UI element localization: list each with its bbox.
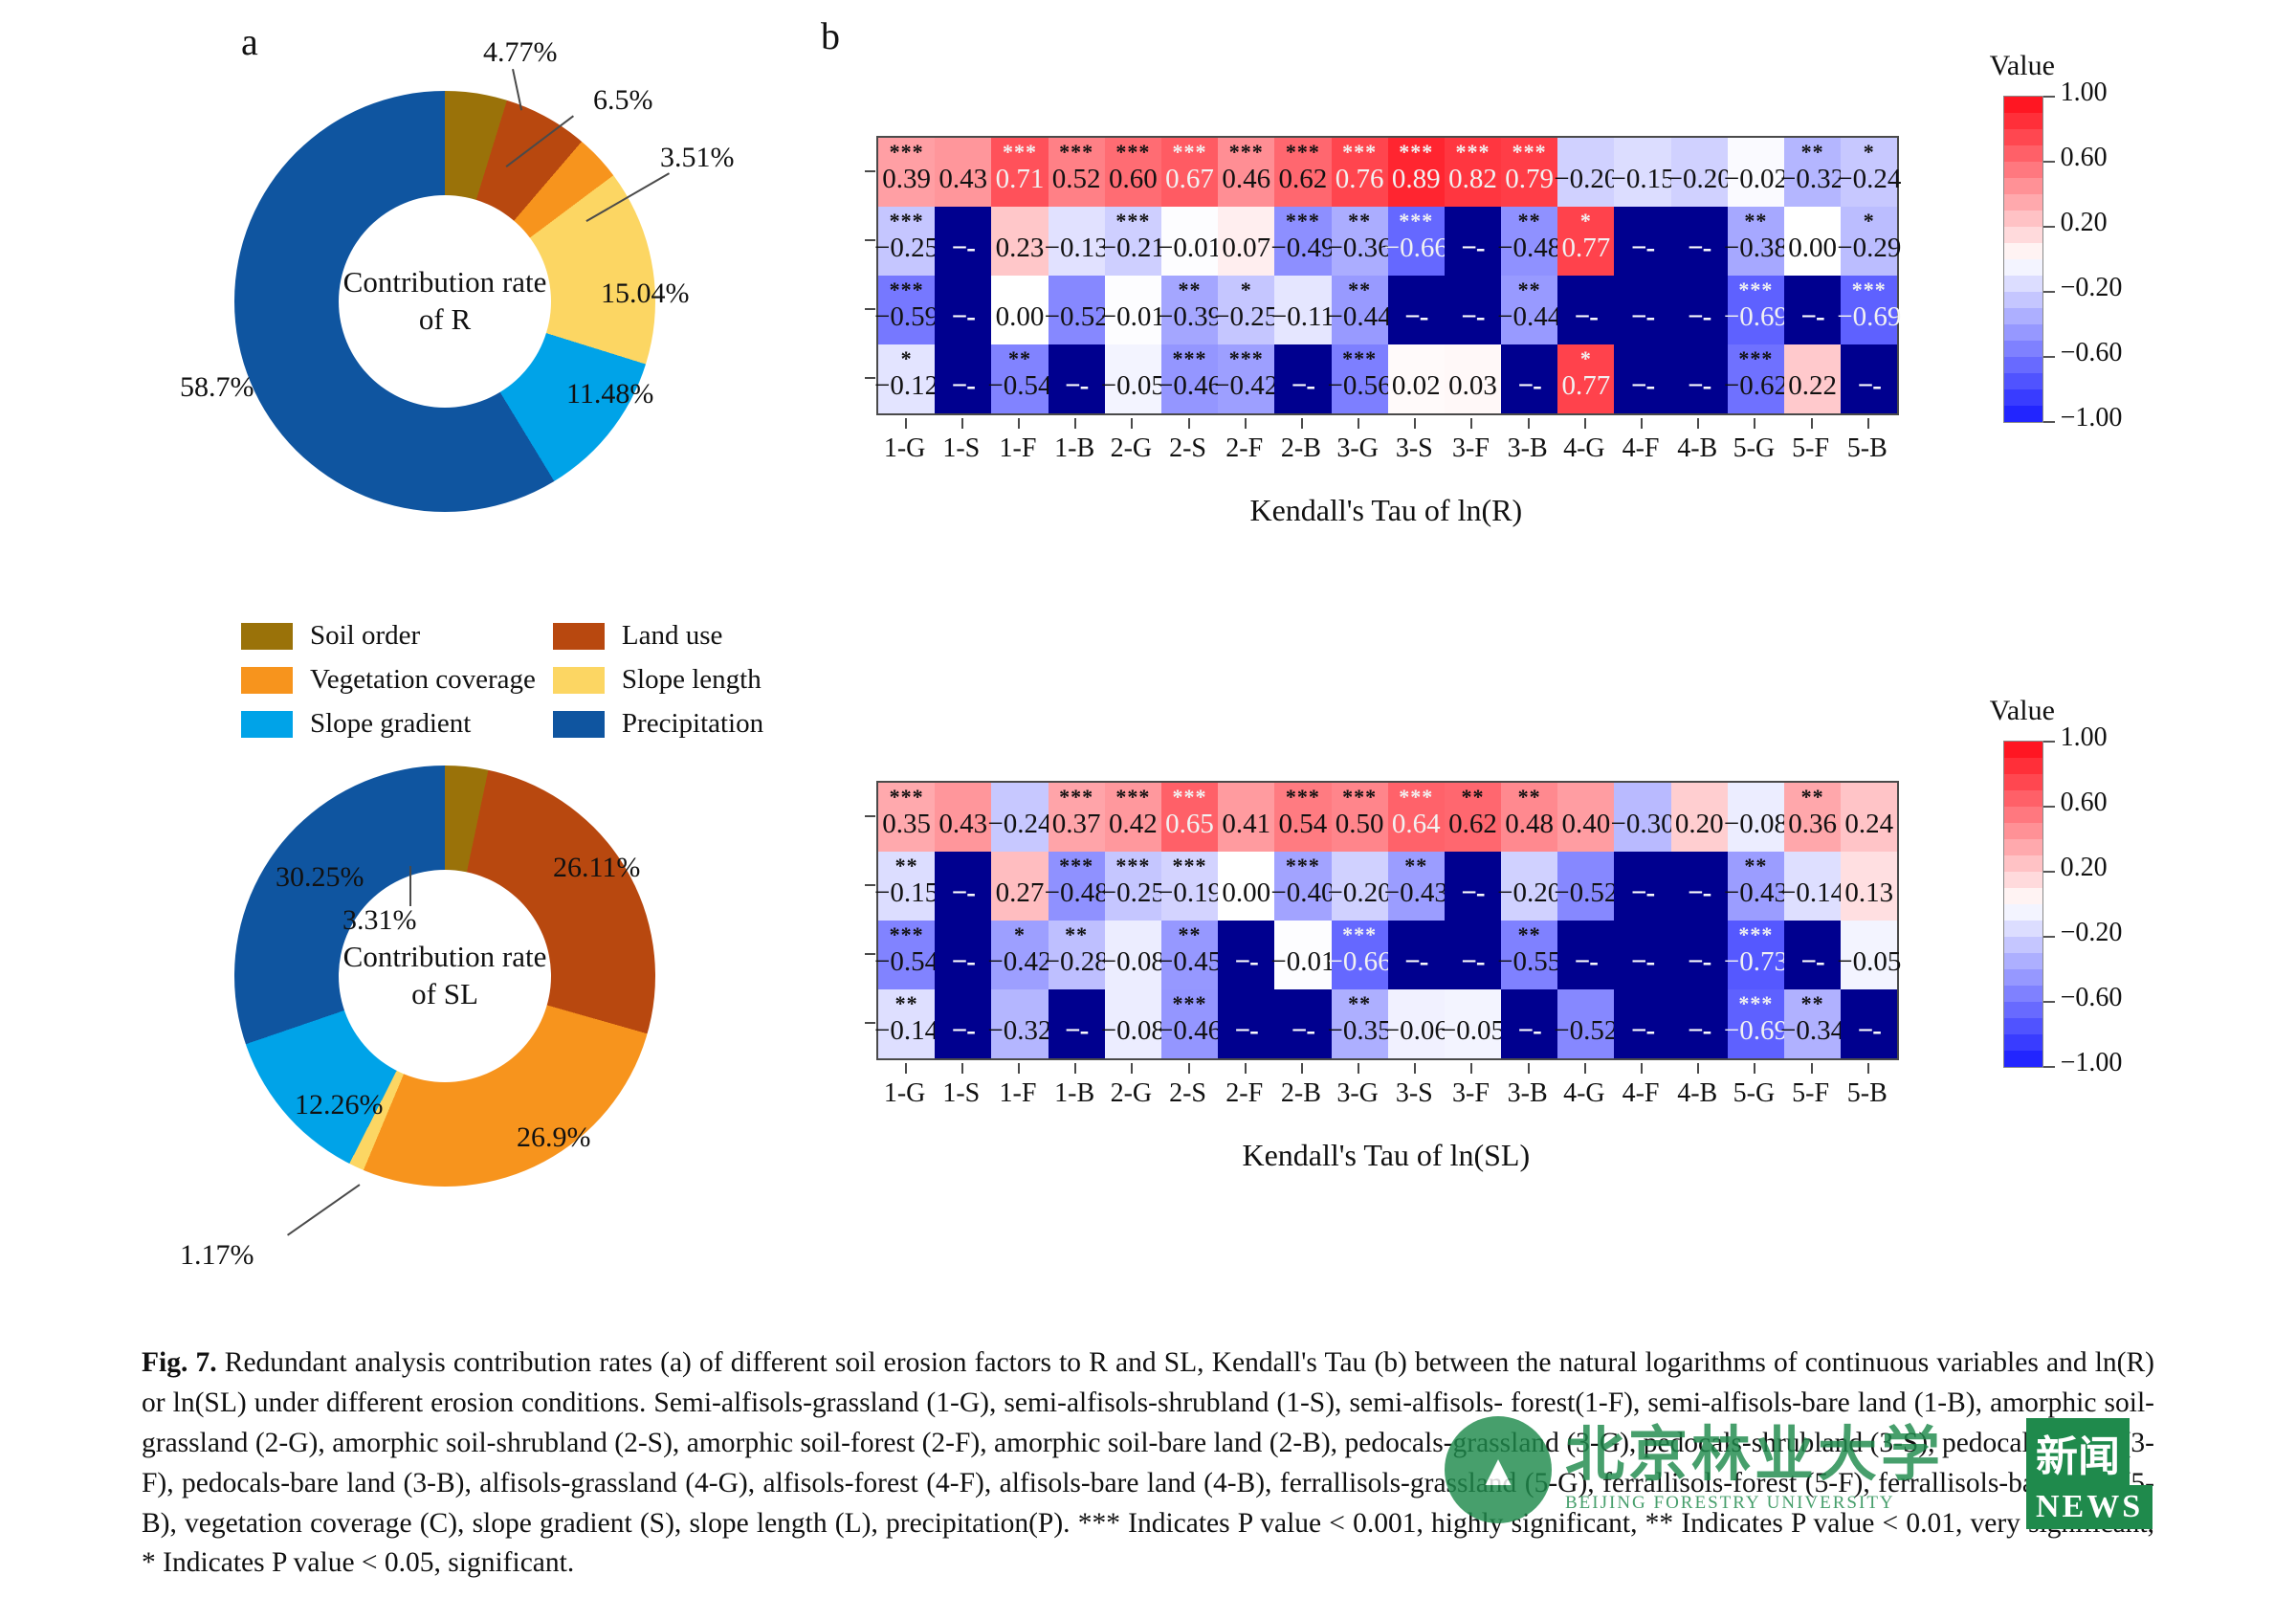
heatmap-cell[interactable]: ***0.79 xyxy=(1501,138,1557,207)
tick-mark xyxy=(1470,1063,1472,1074)
heatmap-cell-value: −- xyxy=(1518,370,1541,402)
heatmap-cell[interactable]: *−0.29 xyxy=(1841,207,1897,276)
heatmap-cell[interactable]: ***−0.69 xyxy=(1728,989,1784,1058)
heatmap-cell-value: −0.25 xyxy=(874,233,938,264)
heatmap-cell[interactable]: −0.20 xyxy=(1332,852,1388,921)
heatmap-x-tick-2-g: 2-G xyxy=(1103,1063,1159,1109)
heatmap-cell-value: −0.48 xyxy=(1497,233,1561,264)
heatmap-cell-value: 0.77 xyxy=(1561,233,1610,264)
heatmap-cell-value: −- xyxy=(1688,301,1711,333)
colorbar-tick-label: −0.20 xyxy=(2061,273,2123,303)
colorbar-segment xyxy=(2004,872,2042,888)
heatmap-cell[interactable]: *−0.12 xyxy=(878,344,935,413)
heatmap-cell[interactable]: −0.01 xyxy=(1105,276,1161,344)
heatmap-cell[interactable]: −- xyxy=(1388,921,1445,989)
heatmap-cell[interactable]: −- xyxy=(1388,276,1445,344)
significance-marker: *** xyxy=(878,924,935,945)
heatmap-cell[interactable]: −0.05 xyxy=(1105,344,1161,413)
heatmap-cell[interactable]: **−0.34 xyxy=(1784,989,1841,1058)
heatmap-cell-value: −0.20 xyxy=(1328,877,1392,909)
heatmap-cell[interactable]: −- xyxy=(1218,921,1274,989)
heatmap-cell[interactable]: 0.24 xyxy=(1841,783,1897,852)
heatmap-cell-value: −- xyxy=(1631,1015,1654,1047)
heatmap-cell-value: −0.32 xyxy=(987,1015,1051,1047)
colorbar-segment xyxy=(2004,97,2042,113)
heatmap-cell[interactable]: **−0.14 xyxy=(878,989,935,1058)
heatmap-cell-value: 0.27 xyxy=(996,877,1045,909)
heatmap-cell-value: 0.89 xyxy=(1392,164,1441,195)
heatmap-cell[interactable]: 0.00 xyxy=(991,276,1048,344)
heatmap-cell[interactable]: −- xyxy=(1501,344,1557,413)
heatmap-cell[interactable]: −0.30 xyxy=(1614,783,1670,852)
colorbar-tick-mark xyxy=(2043,356,2055,358)
heatmap-cell[interactable]: −0.20 xyxy=(1501,852,1557,921)
heatmap-cell-value: 0.71 xyxy=(996,164,1045,195)
significance-marker: * xyxy=(878,348,935,369)
significance-marker: ** xyxy=(1332,211,1388,232)
colorbar-segment xyxy=(2004,888,2042,904)
heatmap-cell[interactable]: ***−0.49 xyxy=(1274,207,1331,276)
heatmap-cell[interactable]: −- xyxy=(1445,852,1501,921)
heatmap-cell[interactable]: −0.02 xyxy=(1728,138,1784,207)
heatmap-cell[interactable]: −0.08 xyxy=(1105,921,1161,989)
heatmap-cell[interactable]: **−0.45 xyxy=(1161,921,1218,989)
heatmap-cell[interactable]: −- xyxy=(1614,344,1670,413)
heatmap-cell[interactable]: **−0.43 xyxy=(1388,852,1445,921)
heatmap-cell-value: 0.62 xyxy=(1448,809,1497,840)
tick-mark xyxy=(1867,1063,1869,1074)
significance-marker: ** xyxy=(1049,924,1105,945)
heatmap-cell-value: 0.48 xyxy=(1505,809,1554,840)
heatmap-cell[interactable]: −0.01 xyxy=(1161,207,1218,276)
heatmap-cell-value: −0.21 xyxy=(1101,233,1165,264)
heatmap-cell[interactable]: ***−0.66 xyxy=(1388,207,1445,276)
heatmap-cell[interactable]: ***0.65 xyxy=(1161,783,1218,852)
heatmap-cell[interactable]: −0.15 xyxy=(1614,138,1670,207)
heatmap-x-tick-5-f: 5-F xyxy=(1782,418,1839,464)
heatmap-cell[interactable]: **−0.15 xyxy=(878,852,935,921)
heatmap-cell[interactable]: −- xyxy=(1841,989,1897,1058)
heatmap-cell-value: −0.34 xyxy=(1780,1015,1844,1047)
heatmap-cell[interactable]: −- xyxy=(1671,344,1728,413)
heatmap-cell[interactable]: −- xyxy=(1841,344,1897,413)
tick-mark xyxy=(1301,418,1303,429)
heatmap-cell-value: −0.25 xyxy=(1214,301,1278,333)
heatmap-cell[interactable]: ***−0.69 xyxy=(1841,276,1897,344)
heatmap-cell[interactable]: **−0.55 xyxy=(1501,921,1557,989)
heatmap-cell[interactable]: −- xyxy=(1274,344,1331,413)
heatmap-cell[interactable]: −0.52 xyxy=(1557,852,1614,921)
heatmap-cell[interactable]: −- xyxy=(1671,207,1728,276)
heatmap-cell[interactable]: ***0.82 xyxy=(1445,138,1501,207)
heatmap-cell[interactable]: −0.05 xyxy=(1841,921,1897,989)
heatmap-cell[interactable]: ***0.67 xyxy=(1161,138,1218,207)
heatmap-cell-value: 0.65 xyxy=(1165,809,1214,840)
colorbar-segment xyxy=(2004,774,2042,790)
heatmap-cell[interactable]: −- xyxy=(1614,989,1670,1058)
heatmap-cell[interactable]: ***−0.54 xyxy=(878,921,935,989)
heatmap-cell-value: −0.52 xyxy=(1554,877,1618,909)
x-tick-label: 1-B xyxy=(1054,1078,1094,1108)
heatmap-cell[interactable]: −- xyxy=(1671,921,1728,989)
x-tick-label: 4-F xyxy=(1623,1078,1660,1108)
heatmap-cell[interactable]: 0.07 xyxy=(1218,207,1274,276)
x-tick-label: 3-G xyxy=(1336,1078,1379,1108)
tick-mark xyxy=(905,1063,907,1074)
heatmap-cell-value: −0.11 xyxy=(1271,301,1335,333)
x-tick-label: 1-F xyxy=(1000,1078,1037,1108)
heatmap-cell[interactable]: ***0.60 xyxy=(1105,138,1161,207)
significance-marker: ** xyxy=(1501,924,1557,945)
tick-mark xyxy=(1470,418,1472,429)
heatmap-cell-value: −0.38 xyxy=(1724,233,1788,264)
heatmap-cell-value: −0.06 xyxy=(1384,1015,1448,1047)
heatmap-cell[interactable]: ***0.37 xyxy=(1049,783,1105,852)
heatmap-cell-value: −0.54 xyxy=(874,946,938,978)
heatmap-cell-value: −0.08 xyxy=(1101,1015,1165,1047)
significance-marker: *** xyxy=(1274,211,1331,232)
colorbar-tick-mark xyxy=(2043,1001,2055,1003)
significance-marker: *** xyxy=(991,142,1048,163)
colorbar-segment xyxy=(2004,921,2042,937)
heatmap-cell[interactable]: ***0.50 xyxy=(1332,783,1388,852)
heatmap-cell-value: −0.15 xyxy=(1610,164,1674,195)
heatmap-cell[interactable]: ***0.46 xyxy=(1218,138,1274,207)
heatmap-cell-value: −0.69 xyxy=(1724,1015,1788,1047)
heatmap-cell[interactable]: *−0.25 xyxy=(1218,276,1274,344)
colorbar-segment xyxy=(2004,937,2042,953)
heatmap-cell[interactable]: ***0.76 xyxy=(1332,138,1388,207)
heatmap-cell-value: 0.07 xyxy=(1222,233,1270,264)
heatmap-cell[interactable]: −0.06 xyxy=(1388,989,1445,1058)
tick-mark xyxy=(1811,1063,1813,1074)
significance-marker: *** xyxy=(1841,279,1897,300)
tick-mark xyxy=(961,1063,963,1074)
heatmap-cell[interactable]: **−0.48 xyxy=(1501,207,1557,276)
heatmap-cell[interactable]: −- xyxy=(935,852,991,921)
heatmap-cell[interactable]: 0.03 xyxy=(1445,344,1501,413)
heatmap-cell[interactable]: ***−0.48 xyxy=(1049,852,1105,921)
heatmap-cell[interactable]: *0.77 xyxy=(1557,344,1614,413)
significance-marker: *** xyxy=(1161,142,1218,163)
heatmap-cell[interactable]: ***−0.25 xyxy=(878,207,935,276)
heatmap-cell[interactable]: 0.40 xyxy=(1557,783,1614,852)
colorbar-segment xyxy=(2004,904,2042,921)
heatmap-axis-title: Kendall's Tau of ln(SL) xyxy=(876,1138,1896,1173)
heatmap-cell[interactable]: **−0.36 xyxy=(1332,207,1388,276)
heatmap-cell[interactable]: 0.23 xyxy=(991,207,1048,276)
heatmap-cell[interactable]: *0.77 xyxy=(1557,207,1614,276)
heatmap-cell[interactable]: −- xyxy=(1557,276,1614,344)
heatmap-cell-value: −0.29 xyxy=(1837,233,1901,264)
heatmap-x-tick-2-f: 2-F xyxy=(1216,418,1272,464)
legend-label-land-use: Land use xyxy=(622,620,763,652)
donut-chart-r: Contribution rate of R xyxy=(234,91,655,512)
heatmap-cell[interactable]: −0.24 xyxy=(991,783,1048,852)
heatmap-cell[interactable]: −0.20 xyxy=(1671,138,1728,207)
heatmap-cell[interactable]: ***−0.56 xyxy=(1332,344,1388,413)
x-tick-label: 2-F xyxy=(1225,433,1263,463)
heatmap-cell[interactable]: 0.27 xyxy=(991,852,1048,921)
heatmap-x-tick-5-b: 5-B xyxy=(1839,418,1895,464)
heatmap-cell[interactable]: −0.11 xyxy=(1274,276,1331,344)
x-tick-label: 1-G xyxy=(884,433,926,463)
legend-label-vegetation-coverage: Vegetation coverage xyxy=(310,664,536,696)
heatmap-cell-value: −0.40 xyxy=(1270,877,1335,909)
heatmap-cell[interactable]: 0.22 xyxy=(1784,344,1841,413)
heatmap-x-tick-3-s: 3-S xyxy=(1386,418,1443,464)
heatmap-cell[interactable]: −0.52 xyxy=(1557,989,1614,1058)
heatmap-cell[interactable]: 0.02 xyxy=(1388,344,1445,413)
colorbar-segment xyxy=(2004,807,2042,823)
heatmap-cell[interactable]: ***−0.19 xyxy=(1161,852,1218,921)
heatmap-cell[interactable]: −- xyxy=(935,207,991,276)
pie-legend: Soil order Land use Vegetation coverage … xyxy=(241,620,763,740)
heatmap-cell[interactable]: −- xyxy=(1557,921,1614,989)
x-tick-label: 2-S xyxy=(1169,433,1206,463)
heatmap-cell[interactable]: ***−0.69 xyxy=(1728,276,1784,344)
heatmap-x-tick-1-f: 1-F xyxy=(989,1063,1046,1109)
heatmap-cell[interactable]: **−0.43 xyxy=(1728,852,1784,921)
heatmap-cell-value: −0.46 xyxy=(1158,370,1222,402)
heatmap-cell[interactable]: −- xyxy=(935,276,991,344)
heatmap-cell[interactable]: −- xyxy=(935,989,991,1058)
heatmap-cell[interactable]: **0.62 xyxy=(1445,783,1501,852)
colorbar-title: Value xyxy=(1990,695,2055,727)
heatmap-cell[interactable]: 0.13 xyxy=(1841,852,1897,921)
significance-marker: *** xyxy=(1728,348,1784,369)
legend-swatch-soil-order xyxy=(241,623,293,650)
heatmap-cell[interactable]: ***−0.66 xyxy=(1332,921,1388,989)
heatmap-grid: ***0.390.43***0.71***0.52***0.60***0.67*… xyxy=(876,136,1899,415)
significance-marker: *** xyxy=(1728,279,1784,300)
heatmap-cell[interactable]: −- xyxy=(1445,207,1501,276)
heatmap-cell[interactable]: −- xyxy=(1614,921,1670,989)
heatmap-cell[interactable]: −- xyxy=(1274,989,1331,1058)
heatmap-cell[interactable]: 0.43 xyxy=(935,783,991,852)
heatmap-cell[interactable]: ***0.52 xyxy=(1049,138,1105,207)
significance-marker: ** xyxy=(1784,993,1841,1014)
donut-chart-sl: Contribution rate of SL xyxy=(234,766,655,1187)
heatmap-cell[interactable]: **−0.44 xyxy=(1501,276,1557,344)
heatmap-cell-value: −0.30 xyxy=(1610,809,1674,840)
tick-mark xyxy=(1528,418,1530,429)
heatmap-cell[interactable]: −- xyxy=(1614,852,1670,921)
x-tick-label: 3-S xyxy=(1396,1078,1433,1108)
heatmap-cell[interactable]: −0.13 xyxy=(1049,207,1105,276)
heatmap-cell[interactable]: ***0.35 xyxy=(878,783,935,852)
heatmap-cell[interactable]: ***0.54 xyxy=(1274,783,1331,852)
heatmap-cell[interactable]: ***0.39 xyxy=(878,138,935,207)
heatmap-cell[interactable]: −0.32 xyxy=(991,989,1048,1058)
tick-mark xyxy=(1188,418,1190,429)
heatmap-cell[interactable]: ***−0.46 xyxy=(1161,989,1218,1058)
x-tick-label: 5-B xyxy=(1847,433,1888,463)
heatmap-cell-value: 0.00 xyxy=(1222,877,1270,909)
heatmap-cell[interactable]: ***−0.73 xyxy=(1728,921,1784,989)
heatmap-cell[interactable]: **0.36 xyxy=(1784,783,1841,852)
legend-label-slope-gradient: Slope gradient xyxy=(310,708,536,740)
heatmap-cell-value: −0.28 xyxy=(1045,946,1109,978)
heatmap-cell[interactable]: ***0.64 xyxy=(1388,783,1445,852)
donut-r-center-label: Contribution rate of R xyxy=(339,195,551,408)
colorbar-segment xyxy=(2004,953,2042,969)
heatmap-cell[interactable]: ***−0.59 xyxy=(878,276,935,344)
donut-sl-center-label: Contribution rate of SL xyxy=(339,870,551,1082)
heatmap-cell[interactable]: ***−0.42 xyxy=(1218,344,1274,413)
heatmap-cell-value: 0.50 xyxy=(1336,809,1384,840)
heatmap-cell[interactable]: −0.08 xyxy=(1105,989,1161,1058)
significance-marker: ** xyxy=(878,993,935,1014)
heatmap-cell[interactable]: −- xyxy=(1614,276,1670,344)
donut-r-pct-5: 58.7% xyxy=(180,371,254,404)
significance-marker: ** xyxy=(1445,787,1501,808)
significance-marker: *** xyxy=(1049,142,1105,163)
heatmap-cell[interactable]: −- xyxy=(1671,276,1728,344)
heatmap-cell[interactable]: **−0.54 xyxy=(991,344,1048,413)
heatmap-cell[interactable]: −- xyxy=(1049,344,1105,413)
heatmap-cell[interactable]: −- xyxy=(1049,989,1105,1058)
tick-mark xyxy=(1754,418,1755,429)
colorbar-tick-label: 1.00 xyxy=(2061,78,2108,108)
significance-marker: *** xyxy=(1161,855,1218,877)
heatmap-cell[interactable]: −- xyxy=(1445,276,1501,344)
heatmap-cell-value: 0.43 xyxy=(938,164,987,195)
x-tick-label: 2-G xyxy=(1111,1078,1153,1108)
tick-mark xyxy=(1245,1063,1247,1074)
significance-marker: * xyxy=(1841,211,1897,232)
heatmap-cell[interactable]: −- xyxy=(1218,989,1274,1058)
x-tick-label: 2-B xyxy=(1281,1078,1321,1108)
heatmap-cell-value: −- xyxy=(1235,1015,1258,1047)
donut-r-pct-2: 3.51% xyxy=(660,142,735,174)
colorbar-tick-mark xyxy=(2043,291,2055,293)
heatmap-grid: ***0.350.43−0.24***0.37***0.42***0.650.4… xyxy=(876,781,1899,1060)
heatmap-cell-value: −- xyxy=(1801,301,1824,333)
legend-swatch-precipitation xyxy=(553,711,605,738)
heatmap-cell[interactable]: 0.41 xyxy=(1218,783,1274,852)
heatmap-cell-value: 0.20 xyxy=(1675,809,1724,840)
legend-label-slope-length: Slope length xyxy=(622,664,763,696)
heatmap-cell[interactable]: ***−0.62 xyxy=(1728,344,1784,413)
heatmap-cell[interactable]: −- xyxy=(1784,276,1841,344)
heatmap-cell[interactable]: **−0.44 xyxy=(1332,276,1388,344)
colorbar-tick-label: −0.20 xyxy=(2061,918,2123,948)
heatmap-cell[interactable]: *−0.24 xyxy=(1841,138,1897,207)
heatmap-cell[interactable]: ***0.42 xyxy=(1105,783,1161,852)
heatmap-cell[interactable]: **−0.32 xyxy=(1784,138,1841,207)
colorbar-segment xyxy=(2004,227,2042,243)
heatmap-cell[interactable]: ***−0.25 xyxy=(1105,852,1161,921)
heatmap-cell[interactable]: 0.43 xyxy=(935,138,991,207)
heatmap-cell-value: −0.01 xyxy=(1270,946,1335,978)
heatmap-cell[interactable]: −- xyxy=(935,921,991,989)
significance-marker: *** xyxy=(1728,993,1784,1014)
heatmap-axis-title: Kendall's Tau of ln(R) xyxy=(876,493,1896,528)
heatmap-cell-value: −- xyxy=(1291,370,1314,402)
heatmap-x-axis: 1-G1-S1-F1-B2-G2-S2-F2-B3-G3-S3-F3-B4-G4… xyxy=(876,1063,1896,1109)
heatmap-cell-value: −- xyxy=(952,301,975,333)
heatmap-cell-value: −- xyxy=(1631,370,1654,402)
colorbar-tick-label: −1.00 xyxy=(2061,1048,2123,1078)
x-tick-label: 4-B xyxy=(1677,1078,1717,1108)
heatmap-cell-value: −- xyxy=(1631,946,1654,978)
donut-sl-pct-0: 3.31% xyxy=(342,904,417,937)
heatmap-cell[interactable]: −0.14 xyxy=(1784,852,1841,921)
heatmap-cell[interactable]: −0.05 xyxy=(1445,989,1501,1058)
heatmap-cell-value: −0.52 xyxy=(1554,1015,1618,1047)
heatmap-cell[interactable]: *−0.42 xyxy=(991,921,1048,989)
heatmap-cell-value: 0.41 xyxy=(1222,809,1270,840)
x-tick-label: 4-F xyxy=(1623,433,1660,463)
colorbar-tick-mark xyxy=(2043,936,2055,938)
heatmap-cell[interactable]: −0.20 xyxy=(1557,138,1614,207)
heatmap-cell[interactable]: ***0.71 xyxy=(991,138,1048,207)
significance-marker: ** xyxy=(878,855,935,877)
significance-marker: *** xyxy=(878,787,935,808)
heatmap-cell-value: −0.02 xyxy=(1724,164,1788,195)
heatmap-cell[interactable]: **−0.28 xyxy=(1049,921,1105,989)
heatmap-cell[interactable]: −- xyxy=(1445,921,1501,989)
x-tick-label: 1-S xyxy=(942,433,980,463)
heatmap-cell[interactable]: 0.20 xyxy=(1671,783,1728,852)
heatmap-cell[interactable]: **−0.39 xyxy=(1161,276,1218,344)
colorbar-segment xyxy=(2004,839,2042,855)
x-tick-label: 4-G xyxy=(1563,433,1605,463)
donut-sl-pct-3: 1.17% xyxy=(180,1239,254,1272)
colorbar-segment xyxy=(2004,357,2042,373)
tick-mark xyxy=(1131,418,1133,429)
heatmap-cell[interactable]: **−0.35 xyxy=(1332,989,1388,1058)
heatmap-cell[interactable]: −0.52 xyxy=(1049,276,1105,344)
heatmap-cell-value: 0.35 xyxy=(882,809,931,840)
legend-label-soil-order: Soil order xyxy=(310,620,536,652)
heatmap-cell-value: 0.03 xyxy=(1448,370,1497,402)
heatmap-cell[interactable]: ***−0.46 xyxy=(1161,344,1218,413)
heatmap-cell[interactable]: ***−0.40 xyxy=(1274,852,1331,921)
heatmap-cell[interactable]: −- xyxy=(935,344,991,413)
heatmap-cell[interactable]: −0.01 xyxy=(1274,921,1331,989)
heatmap-cell[interactable]: ***0.89 xyxy=(1388,138,1445,207)
heatmap-cell[interactable]: −- xyxy=(1671,852,1728,921)
heatmap-x-tick-2-s: 2-S xyxy=(1159,1063,1216,1109)
heatmap-cell[interactable]: **0.48 xyxy=(1501,783,1557,852)
heatmap-cell[interactable]: −- xyxy=(1784,921,1841,989)
heatmap-cell-value: 0.43 xyxy=(938,809,987,840)
x-tick-label: 1-S xyxy=(942,1078,980,1108)
heatmap-x-tick-1-b: 1-B xyxy=(1047,418,1103,464)
heatmap-cell[interactable]: **−0.38 xyxy=(1728,207,1784,276)
heatmap-cell-value: −0.62 xyxy=(1724,370,1788,402)
heatmap-cell[interactable]: −0.08 xyxy=(1728,783,1784,852)
heatmap-cell-value: −0.42 xyxy=(987,946,1051,978)
heatmap-cell[interactable]: 0.00 xyxy=(1784,207,1841,276)
tick-mark xyxy=(905,418,907,429)
heatmap-cell[interactable]: 0.00 xyxy=(1218,852,1274,921)
heatmap-cell[interactable]: −- xyxy=(1501,989,1557,1058)
heatmap-cell[interactable]: −- xyxy=(1614,207,1670,276)
x-tick-label: 4-B xyxy=(1677,433,1717,463)
heatmap-cell[interactable]: −- xyxy=(1671,989,1728,1058)
significance-marker: ** xyxy=(1501,787,1557,808)
significance-marker: *** xyxy=(1161,348,1218,369)
x-tick-label: 2-B xyxy=(1281,433,1321,463)
heatmap-cell[interactable]: ***−0.21 xyxy=(1105,207,1161,276)
x-tick-label: 3-S xyxy=(1396,433,1433,463)
heatmap-cell[interactable]: ***0.62 xyxy=(1274,138,1331,207)
significance-marker: ** xyxy=(1388,855,1445,877)
heatmap-cell-value: 0.42 xyxy=(1109,809,1158,840)
